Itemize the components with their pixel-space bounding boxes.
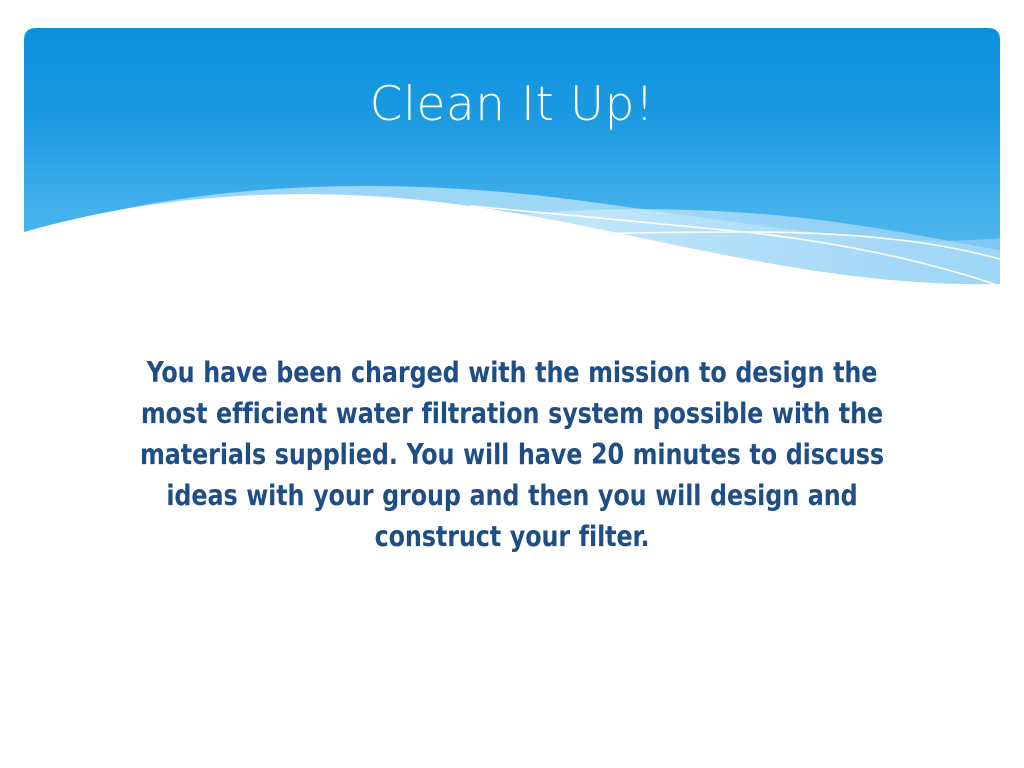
banner-light-band-secondary: [300, 209, 1000, 300]
banner-accent-curve-descending: [300, 232, 1010, 262]
body-placeholder: You have been charged with the mission t…: [104, 352, 920, 557]
banner-wave-graphic: [0, 0, 1024, 300]
banner-light-band: [24, 186, 1000, 300]
banner-white-wave: [24, 194, 1000, 300]
slide-banner: [0, 0, 1024, 300]
title-placeholder: Clean It Up!: [24, 78, 1000, 132]
banner-background: [24, 28, 1000, 288]
banner-accent-curve-ascending: [470, 206, 1000, 286]
presentation-slide: Clean It Up! You have been charged with …: [0, 0, 1024, 768]
page-title: Clean It Up!: [370, 78, 655, 132]
body-paragraph: You have been charged with the mission t…: [133, 352, 892, 557]
